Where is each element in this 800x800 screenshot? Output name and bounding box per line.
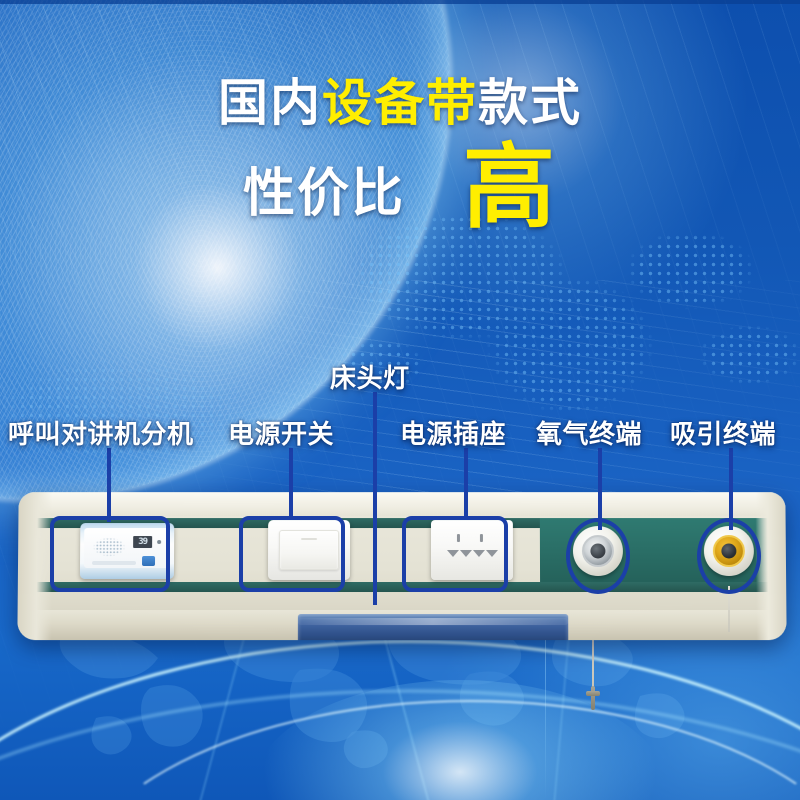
callout-label-oxygen-terminal: 氧气终端 — [536, 414, 642, 451]
headline-block: 国内设备带款式 性价比 高 — [0, 78, 800, 237]
headline-text-high: 高 — [463, 146, 557, 231]
headline-text-style: 款式 — [478, 75, 582, 131]
headline-text-equipment-belt: 设备带 — [322, 75, 478, 131]
callout-label-power-switch: 电源开关 — [228, 414, 334, 451]
highlight-circle-oxygen-terminal — [566, 518, 630, 594]
highlight-box-power-socket — [402, 516, 508, 592]
bed-lamp[interactable] — [298, 614, 568, 640]
panel-left-end-cap — [17, 492, 52, 640]
leader-line-power-switch — [289, 448, 293, 520]
callout-label-power-socket: 电源插座 — [400, 414, 506, 451]
headline-text-value-ratio: 性价比 — [243, 168, 405, 220]
leader-line-bed-lamp — [373, 392, 377, 605]
headline-line-1: 国内设备带款式 — [0, 78, 800, 128]
highlight-box-power-switch — [239, 516, 345, 592]
bed-lamp-gloss — [298, 618, 568, 625]
pull-cord-handle[interactable] — [586, 686, 600, 710]
halftone-world-map-right — [340, 215, 800, 430]
highlight-circle-suction-terminal — [697, 518, 761, 594]
callout-label-nurse-call-intercom: 呼叫对讲机分机 — [8, 414, 194, 451]
leader-line-power-socket — [464, 448, 468, 520]
top-edge-bar — [0, 0, 800, 4]
poster-canvas: 国内设备带款式 性价比 高 呼叫对讲机分机 电源开关 床头灯 电源插座 氧气终端… — [0, 0, 800, 800]
callout-label-suction-terminal: 吸引终端 — [670, 414, 776, 451]
leader-line-nurse-call-intercom — [107, 448, 111, 522]
highlight-box-nurse-call-intercom — [50, 516, 170, 592]
callout-label-bed-lamp: 床头灯 — [330, 358, 410, 395]
panel-right-end-cap — [755, 492, 786, 640]
headline-text-domestic: 国内 — [218, 75, 322, 131]
headline-line-2: 性价比 高 — [0, 152, 800, 237]
panel-top-edge — [18, 492, 785, 516]
